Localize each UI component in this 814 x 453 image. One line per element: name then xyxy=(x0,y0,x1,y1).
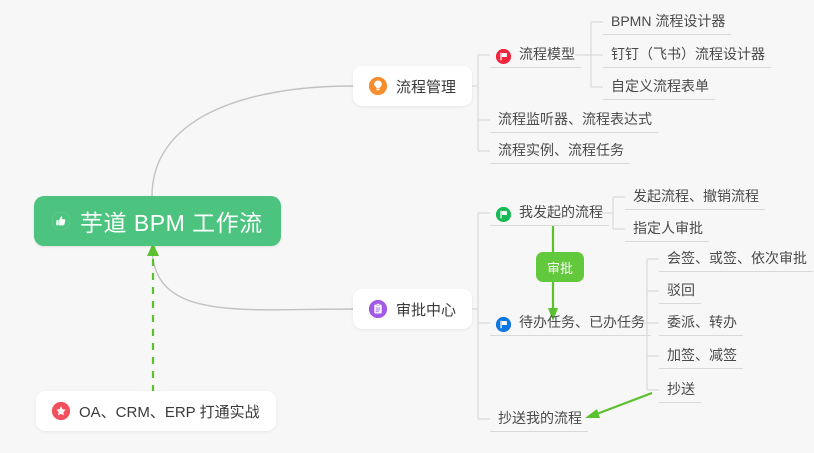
node-label: 我发起的流程 xyxy=(519,202,603,222)
node-label: 抄送我的流程 xyxy=(498,408,582,428)
node-todo-done-tasks[interactable]: 待办任务、已办任务 xyxy=(490,309,651,336)
node-custom-form[interactable]: 自定义流程表单 xyxy=(603,73,715,100)
star-icon xyxy=(52,402,70,420)
node-bpmn-designer[interactable]: BPMN 流程设计器 xyxy=(603,8,731,35)
flag-icon xyxy=(496,317,511,332)
footer-note[interactable]: OA、CRM、ERP 打通实战 xyxy=(36,391,276,431)
branch-label: 流程管理 xyxy=(396,76,456,97)
mindmap-canvas: 芋道 BPM 工作流 流程管理 审批中心 xyxy=(0,0,814,453)
node-label: BPMN 流程设计器 xyxy=(611,11,725,31)
flag-icon xyxy=(496,49,511,64)
branch-approval-center[interactable]: 审批中心 xyxy=(353,289,472,329)
footer-note-label: OA、CRM、ERP 打通实战 xyxy=(79,401,260,422)
node-label: 自定义流程表单 xyxy=(611,76,709,96)
node-label: 委派、转办 xyxy=(667,312,737,332)
node-label: 驳回 xyxy=(667,280,695,300)
approval-tag-label: 审批 xyxy=(547,258,573,277)
node-add-remove-sign[interactable]: 加签、减签 xyxy=(659,342,743,369)
node-label: 流程监听器、流程表达式 xyxy=(498,109,652,129)
node-multi-sign[interactable]: 会签、或签、依次审批 xyxy=(659,245,813,272)
flag-icon xyxy=(496,207,511,222)
node-label: 会签、或签、依次审批 xyxy=(667,248,807,268)
node-cc-to-me[interactable]: 抄送我的流程 xyxy=(490,405,588,432)
clipboard-icon xyxy=(369,300,387,318)
node-label: 发起流程、撤销流程 xyxy=(633,186,759,206)
node-delegate-transfer[interactable]: 委派、转办 xyxy=(659,309,743,336)
node-label: 流程实例、流程任务 xyxy=(498,140,624,160)
node-label: 加签、减签 xyxy=(667,345,737,365)
node-process-listener[interactable]: 流程监听器、流程表达式 xyxy=(490,106,658,133)
branch-process-management[interactable]: 流程管理 xyxy=(353,66,472,106)
node-reject[interactable]: 驳回 xyxy=(659,277,701,304)
branch-label: 审批中心 xyxy=(396,299,456,320)
root-node[interactable]: 芋道 BPM 工作流 xyxy=(34,196,281,246)
cc-flow-arrow xyxy=(585,393,652,418)
node-label: 钉钉（飞书）流程设计器 xyxy=(611,44,765,64)
node-label: 流程模型 xyxy=(519,44,575,64)
node-label: 抄送 xyxy=(667,379,695,399)
approval-tag: 审批 xyxy=(536,252,584,282)
node-assignee-approval[interactable]: 指定人审批 xyxy=(625,215,709,242)
node-process-model[interactable]: 流程模型 xyxy=(490,41,581,68)
node-cc[interactable]: 抄送 xyxy=(659,376,701,403)
node-process-instance[interactable]: 流程实例、流程任务 xyxy=(490,137,630,164)
thumbs-up-icon xyxy=(52,212,70,230)
node-start-cancel-process[interactable]: 发起流程、撤销流程 xyxy=(625,183,765,210)
integration-dashed-arrow xyxy=(147,243,159,392)
root-label: 芋道 BPM 工作流 xyxy=(80,204,263,238)
node-dingtalk-designer[interactable]: 钉钉（飞书）流程设计器 xyxy=(603,41,771,68)
node-label: 指定人审批 xyxy=(633,218,703,238)
node-my-initiated[interactable]: 我发起的流程 xyxy=(490,199,609,226)
lightbulb-icon xyxy=(369,77,387,95)
node-label: 待办任务、已办任务 xyxy=(519,312,645,332)
